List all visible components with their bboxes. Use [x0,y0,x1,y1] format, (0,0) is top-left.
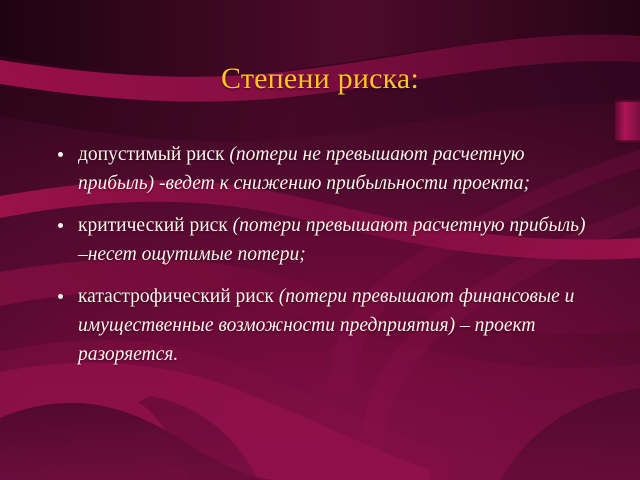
page-title: Степени риска: [0,60,640,98]
risk-degrees-list: допустимый риск (потери не превышают рас… [52,140,592,369]
risk-term: допустимый риск [78,144,229,165]
presentation-slide: Степени риска: допустимый риск (потери н… [0,0,640,480]
bullet-dot-icon [58,152,63,157]
list-item: критический риск (потери превышают расче… [52,211,592,269]
risk-term: катастрофический риск [78,286,279,307]
slide-content: Степени риска: допустимый риск (потери н… [0,0,640,480]
bullet-dot-icon [58,223,63,228]
risk-term: критический риск [78,215,233,236]
list-item: катастрофический риск (потери превышают … [52,282,592,369]
list-item: допустимый риск (потери не превышают рас… [52,140,592,198]
bullet-dot-icon [58,294,63,299]
